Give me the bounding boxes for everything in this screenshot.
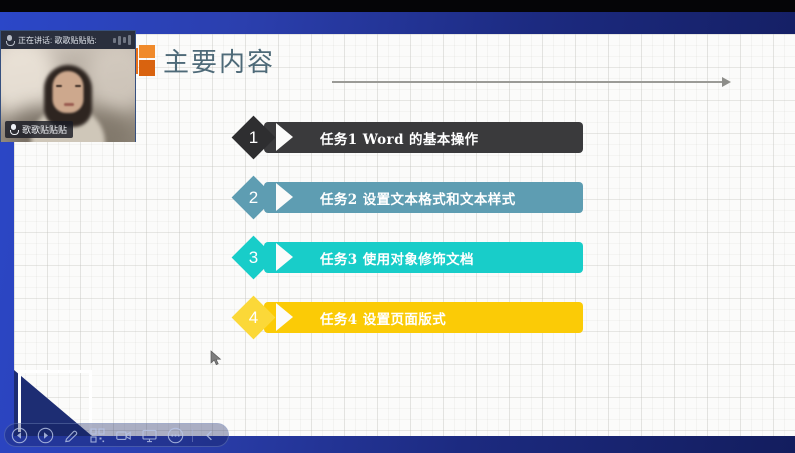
page-title: 主要内容 [163, 42, 275, 79]
task-bar[interactable]: 任务1 Word 的基本操作 [264, 122, 583, 153]
list-item[interactable]: 任务3 使用对象修饰文档 3 [238, 242, 583, 273]
toolbar-divider [192, 429, 193, 442]
screen-root: 主要内容 任务1 Word 的基本操作 1 任务2 设置文本格式和文本样式 [0, 0, 795, 453]
task-bar[interactable]: 任务3 使用对象修饰文档 [264, 242, 583, 273]
task-label: 任务4 设置页面版式 [320, 308, 446, 328]
task-label: 任务3 使用对象修饰文档 [320, 248, 474, 268]
task-bar[interactable]: 任务4 设置页面版式 [264, 302, 583, 333]
participant-name-badge: 歌歌贴贴贴 [5, 121, 73, 138]
participant-name-label: 歌歌贴贴贴 [22, 123, 67, 136]
task-chevron-icon [276, 243, 293, 271]
top-letterbox-bar [0, 0, 795, 12]
monitor-icon[interactable] [140, 426, 159, 445]
mouse-pointer-icon [210, 350, 222, 366]
task-list: 任务1 Word 的基本操作 1 任务2 设置文本格式和文本样式 2 [238, 122, 583, 362]
task-number: 3 [238, 242, 269, 273]
list-item[interactable]: 任务4 设置页面版式 4 [238, 302, 583, 333]
microphone-icon [9, 124, 18, 135]
task-number: 4 [238, 302, 269, 333]
task-number: 2 [238, 182, 269, 213]
microphone-icon [5, 35, 14, 46]
task-chevron-icon [276, 183, 293, 211]
video-feed[interactable]: 歌歌贴贴贴 [1, 49, 135, 142]
task-number: 1 [238, 122, 269, 153]
audio-waveform-icon [113, 35, 131, 45]
presentation-window-frame: 主要内容 任务1 Word 的基本操作 1 任务2 设置文本格式和文本样式 [0, 12, 795, 453]
speaking-status-label: 正在讲话: 歌歌贴贴贴: [18, 35, 97, 46]
task-chevron-icon [276, 303, 293, 331]
qr-code-icon[interactable] [88, 426, 107, 445]
task-label: 任务1 Word 的基本操作 [320, 128, 479, 148]
video-camera-icon[interactable] [114, 426, 133, 445]
list-item[interactable]: 任务1 Word 的基本操作 1 [238, 122, 583, 153]
speaker-status-bar: 正在讲话: 歌歌贴贴贴: [1, 31, 135, 49]
chevron-right-circle-icon[interactable] [36, 426, 55, 445]
chevron-left-circle-icon[interactable] [10, 426, 29, 445]
list-item[interactable]: 任务2 设置文本格式和文本样式 2 [238, 182, 583, 213]
title-arrow-rule [332, 81, 724, 83]
chevron-left-icon[interactable] [200, 426, 219, 445]
ellipsis-circle-icon[interactable] [166, 426, 185, 445]
presentation-toolbar[interactable] [4, 423, 229, 447]
task-chevron-icon [276, 123, 293, 151]
task-bar[interactable]: 任务2 设置文本格式和文本样式 [264, 182, 583, 213]
slide-title-row: 主要内容 [128, 42, 275, 79]
speaker-video-panel[interactable]: 正在讲话: 歌歌贴贴贴: 歌歌贴贴贴 [0, 30, 136, 142]
task-label: 任务2 设置文本格式和文本样式 [320, 188, 516, 208]
pen-icon[interactable] [62, 426, 81, 445]
